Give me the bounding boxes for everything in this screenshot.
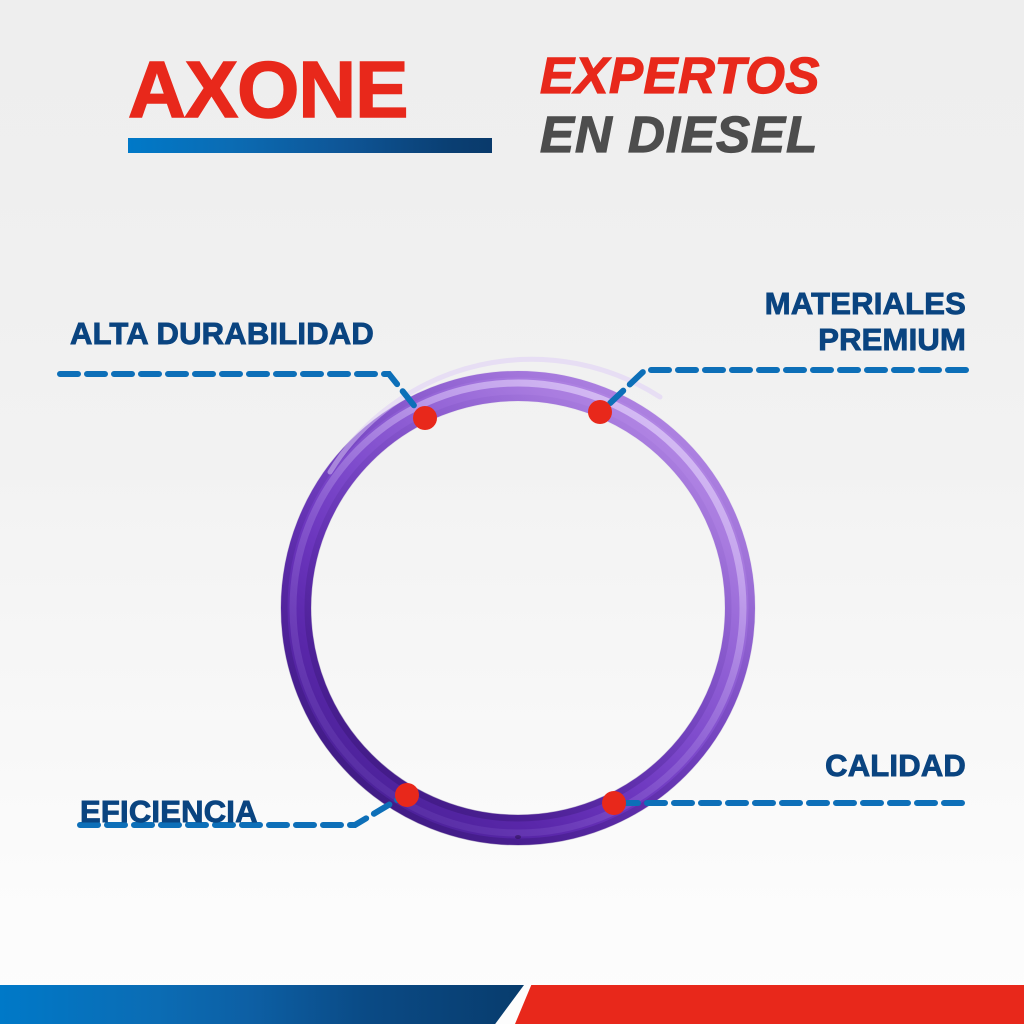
footer-accent-bar [0, 985, 1024, 1024]
brand-tagline: EXPERTOS EN DIESEL [540, 52, 970, 159]
callout-dot-materiales-premium[interactable] [588, 400, 612, 424]
footer-bar-red-segment [515, 985, 1024, 1024]
footer-bar-blue-segment [0, 985, 524, 1024]
promo-graphic-canvas: AXONE EXPERTOS EN DIESEL [0, 0, 1024, 1024]
callout-label-eficiencia: EFICIENCIA [80, 794, 258, 830]
callout-line-materiales-premium [606, 370, 966, 407]
callout-dot-calidad[interactable] [602, 791, 626, 815]
callout-line-alta-durabilidad [60, 374, 420, 413]
callout-label-materiales-premium: MATERIALES PREMIUM [765, 286, 966, 358]
brand-logo: AXONE [128, 48, 492, 153]
callout-dot-alta-durabilidad[interactable] [413, 406, 437, 430]
callout-label-alta-durabilidad: ALTA DURABILIDAD [70, 316, 374, 352]
tagline-line-en-diesel: EN DIESEL [540, 111, 970, 159]
brand-wordmark: AXONE [128, 48, 492, 132]
brand-underline-rule [128, 138, 492, 153]
callout-dot-eficiencia[interactable] [395, 783, 419, 807]
header: AXONE EXPERTOS EN DIESEL [0, 0, 1024, 175]
tagline-line-expertos: EXPERTOS [540, 52, 970, 100]
callout-label-calidad: CALIDAD [825, 748, 966, 784]
